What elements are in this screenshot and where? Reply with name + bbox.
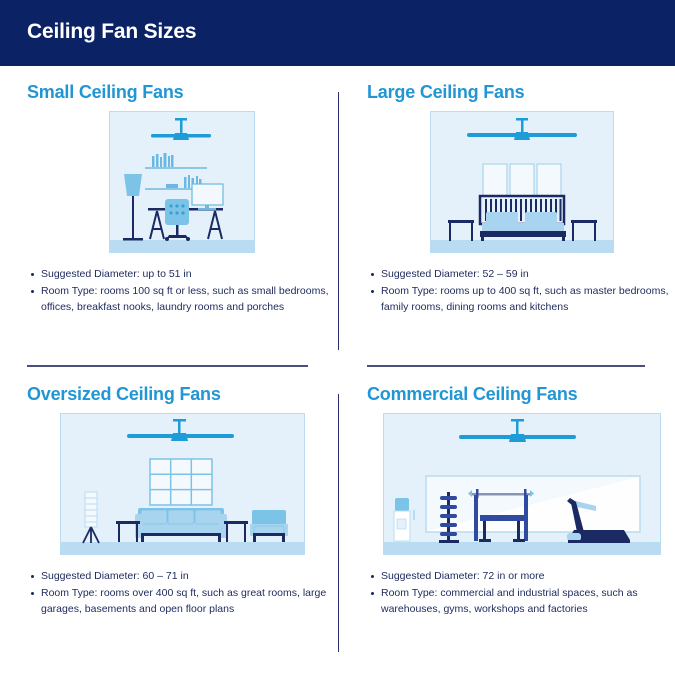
horizontal-divider-right xyxy=(367,365,645,367)
wall-art xyxy=(483,164,561,196)
bullet-list-small: Suggested Diameter: up to 51 in Room Typ… xyxy=(27,267,337,315)
section-title-commercial: Commercial Ceiling Fans xyxy=(367,384,675,405)
list-item: Room Type: rooms 100 sq ft or less, such… xyxy=(27,284,337,316)
sections-grid: Small Ceiling Fans xyxy=(0,66,675,675)
monitor xyxy=(192,184,223,210)
section-oversized: Oversized Ceiling Fans xyxy=(27,384,337,618)
horizontal-divider-left xyxy=(27,365,308,367)
section-commercial: Commercial Ceiling Fans xyxy=(367,384,675,618)
list-item: Room Type: commercial and industrial spa… xyxy=(367,586,675,618)
sofa xyxy=(135,508,227,542)
section-title-oversized: Oversized Ceiling Fans xyxy=(27,384,337,405)
side-table-right xyxy=(224,521,248,542)
header-bar: Ceiling Fan Sizes xyxy=(0,0,675,66)
bullet-list-commercial: Suggested Diameter: 72 in or more Room T… xyxy=(367,569,675,617)
water-cooler xyxy=(394,498,415,541)
nightstand-right xyxy=(571,220,597,241)
illustration-living-room xyxy=(27,413,337,555)
ceiling-fan-icon xyxy=(127,419,234,441)
list-item: Suggested Diameter: 72 in or more xyxy=(367,569,675,585)
illustration-home-office xyxy=(27,111,337,253)
vertical-divider-top xyxy=(338,92,339,350)
infographic-page: Ceiling Fan Sizes Small Ceiling Fans xyxy=(0,0,675,675)
ceiling-fan-icon xyxy=(151,118,211,140)
section-title-small: Small Ceiling Fans xyxy=(27,82,337,103)
ceiling-fan-icon xyxy=(459,419,576,442)
floor-lamp xyxy=(83,492,99,543)
list-item: Suggested Diameter: 52 – 59 in xyxy=(367,267,675,283)
section-small: Small Ceiling Fans xyxy=(27,82,337,316)
list-item: Suggested Diameter: up to 51 in xyxy=(27,267,337,283)
list-item: Suggested Diameter: 60 – 71 in xyxy=(27,569,337,585)
bullet-list-oversized: Suggested Diameter: 60 – 71 in Room Type… xyxy=(27,569,337,617)
page-title: Ceiling Fan Sizes xyxy=(27,20,196,44)
bed xyxy=(480,196,566,241)
side-table-left xyxy=(116,521,140,542)
office-chair xyxy=(165,199,190,241)
window xyxy=(150,459,212,505)
bullet-list-large: Suggested Diameter: 52 – 59 in Room Type… xyxy=(367,267,675,315)
nightstand-left xyxy=(448,220,474,241)
section-large: Large Ceiling Fans xyxy=(367,82,675,316)
dumbbell-rack xyxy=(439,492,459,543)
illustration-bedroom xyxy=(367,111,675,253)
section-title-large: Large Ceiling Fans xyxy=(367,82,675,103)
list-item: Room Type: rooms up to 400 sq ft, such a… xyxy=(367,284,675,316)
mirror-wall xyxy=(426,476,640,532)
ceiling-fan-icon xyxy=(467,118,577,140)
vertical-divider-bottom xyxy=(338,394,339,652)
floor-lamp xyxy=(123,174,143,241)
illustration-gym xyxy=(367,413,675,555)
list-item: Room Type: rooms over 400 sq ft, such as… xyxy=(27,586,337,618)
armchair xyxy=(250,510,288,542)
